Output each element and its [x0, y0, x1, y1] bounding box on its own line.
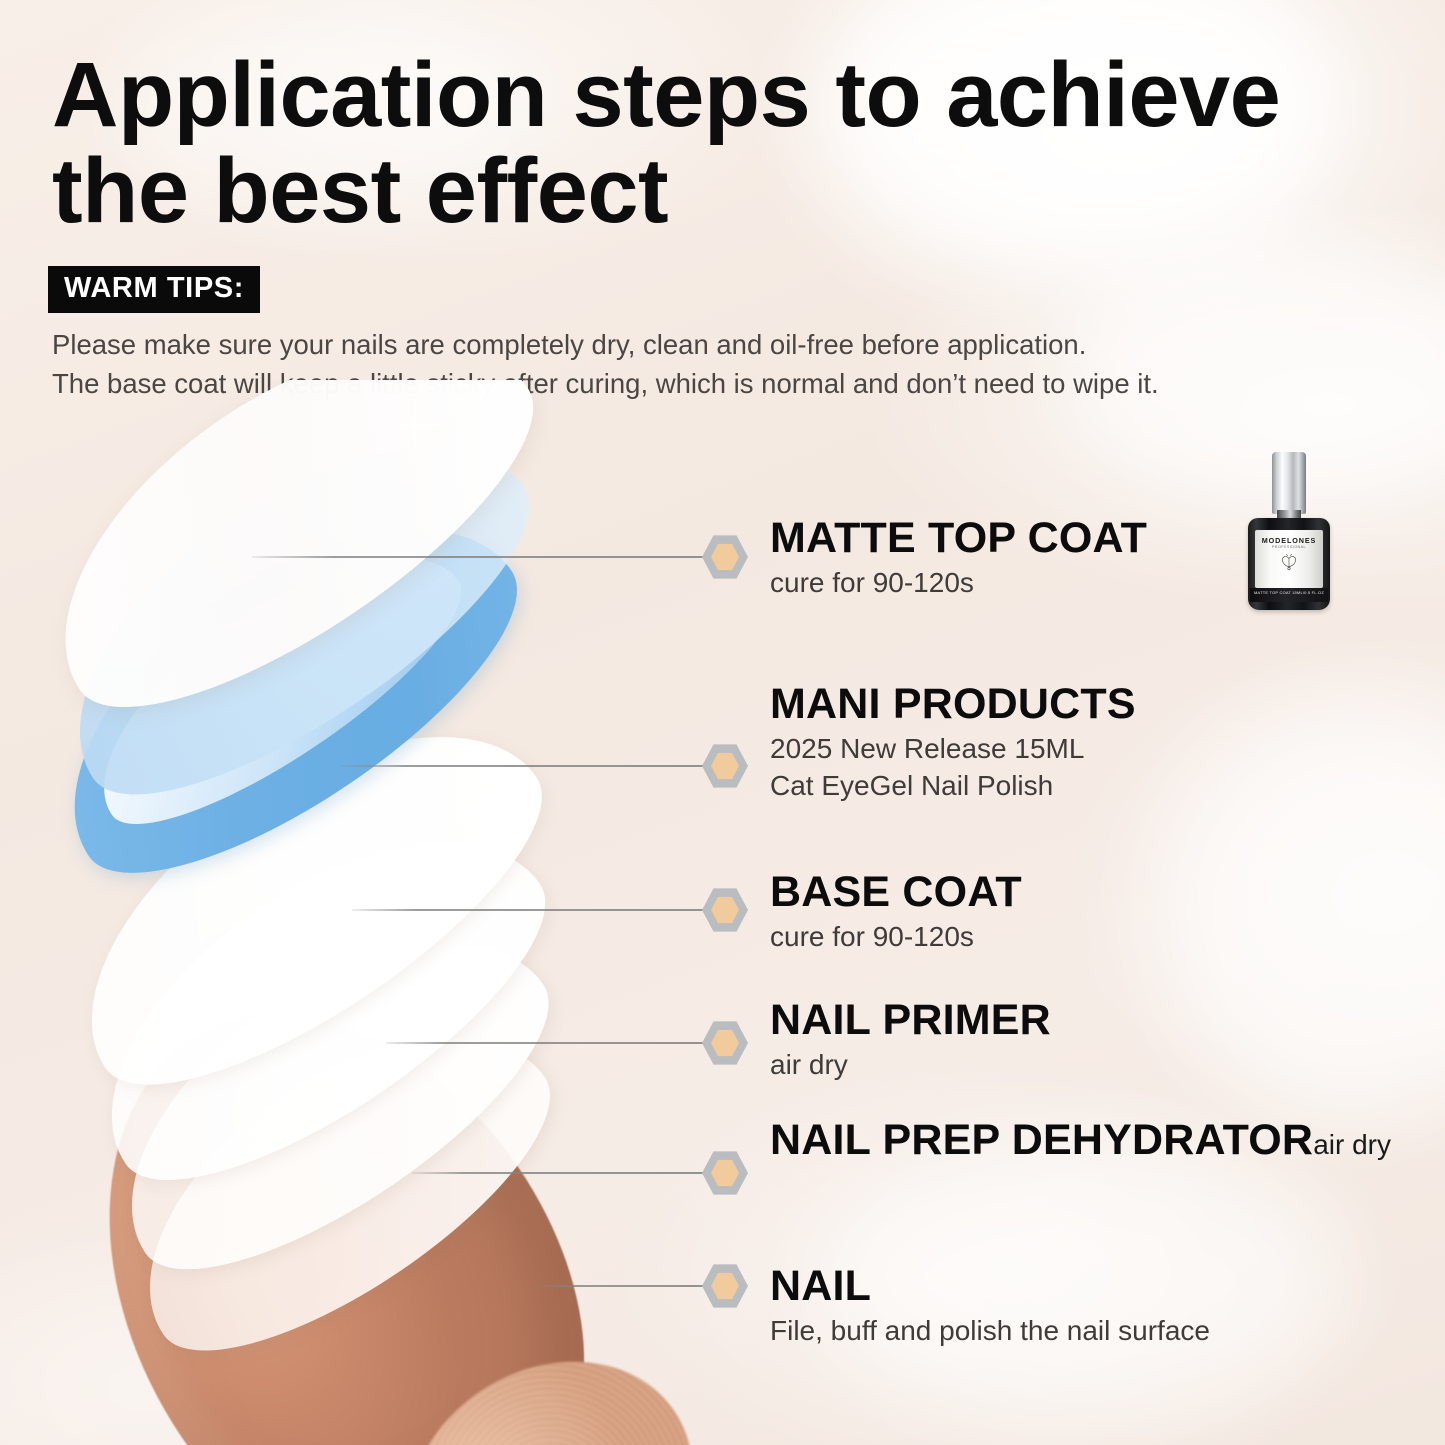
step-title: NAIL	[770, 1262, 1210, 1310]
connector-line-6	[540, 1285, 707, 1287]
product-bottle-image: MODELONES PROFESSIONAL MATTE TOP COAT	[1246, 452, 1332, 610]
step-title: NAIL PRIMER	[770, 996, 1051, 1044]
sparkle-icon	[388, 398, 442, 452]
step-marker-4[interactable]	[702, 1020, 748, 1066]
bottle-cap	[1272, 452, 1306, 514]
butterfly-emblem-icon	[1281, 554, 1297, 572]
bottle-footer-right-text: 15ML/0.5 FL.OZ	[1292, 590, 1324, 595]
connector-line-4	[386, 1042, 707, 1044]
step-inline-note: air dry	[1313, 1129, 1391, 1160]
step-matte-top-coat: MATTE TOP COAT cure for 90-120s	[770, 514, 1147, 601]
bottle-brand-text: MODELONES	[1255, 536, 1323, 545]
connector-line-2	[340, 765, 707, 767]
bottle-label: MODELONES PROFESSIONAL	[1255, 530, 1323, 588]
step-subtitle: cure for 90-120s	[770, 564, 1147, 601]
bottle-footer-left-text: MATTE TOP COAT	[1254, 590, 1291, 595]
step-title-text: NAIL PREP DEHYDRATOR	[770, 1116, 1313, 1164]
step-title: MATTE TOP COAT	[770, 514, 1147, 562]
connector-line-3	[352, 909, 707, 911]
step-subtitle: cure for 90-120s	[770, 918, 1022, 955]
step-marker-6[interactable]	[702, 1263, 748, 1309]
bottle-footer-band: MATTE TOP COAT 15ML/0.5 FL.OZ	[1250, 588, 1328, 602]
step-mani-products: MANI PRODUCTS 2025 New Release 15ML Cat …	[770, 680, 1136, 805]
step-marker-1[interactable]	[702, 534, 748, 580]
step-title: BASE COAT	[770, 868, 1022, 916]
tips-line-1: Please make sure your nails are complete…	[52, 325, 1412, 364]
step-nail-primer: NAIL PRIMER air dry	[770, 996, 1051, 1083]
step-marker-2[interactable]	[702, 743, 748, 789]
step-title: NAIL PREP DEHYDRATORair dry	[770, 1116, 1391, 1164]
step-marker-5[interactable]	[702, 1150, 748, 1196]
step-title: MANI PRODUCTS	[770, 680, 1136, 728]
bottle-body: MODELONES PROFESSIONAL MATTE TOP COAT	[1248, 518, 1330, 610]
step-subtitle: File, buff and polish the nail surface	[770, 1312, 1210, 1349]
warm-tips-badge: WARM TIPS:	[48, 266, 260, 313]
page-title: Application steps to achieve the best ef…	[52, 48, 1392, 239]
step-nail-prep-dehydrator: NAIL PREP DEHYDRATORair dry	[770, 1116, 1391, 1164]
step-base-coat: BASE COAT cure for 90-120s	[770, 868, 1022, 955]
connector-line-1	[252, 556, 707, 558]
step-subtitle: 2025 New Release 15ML Cat EyeGel Nail Po…	[770, 730, 1136, 804]
step-subtitle: air dry	[770, 1046, 1051, 1083]
connector-line-5	[412, 1172, 707, 1174]
step-nail: NAIL File, buff and polish the nail surf…	[770, 1262, 1210, 1349]
infographic-canvas: Application steps to achieve the best ef…	[0, 0, 1445, 1445]
bottle-tagline-text: PROFESSIONAL	[1255, 545, 1323, 549]
step-marker-3[interactable]	[702, 887, 748, 933]
